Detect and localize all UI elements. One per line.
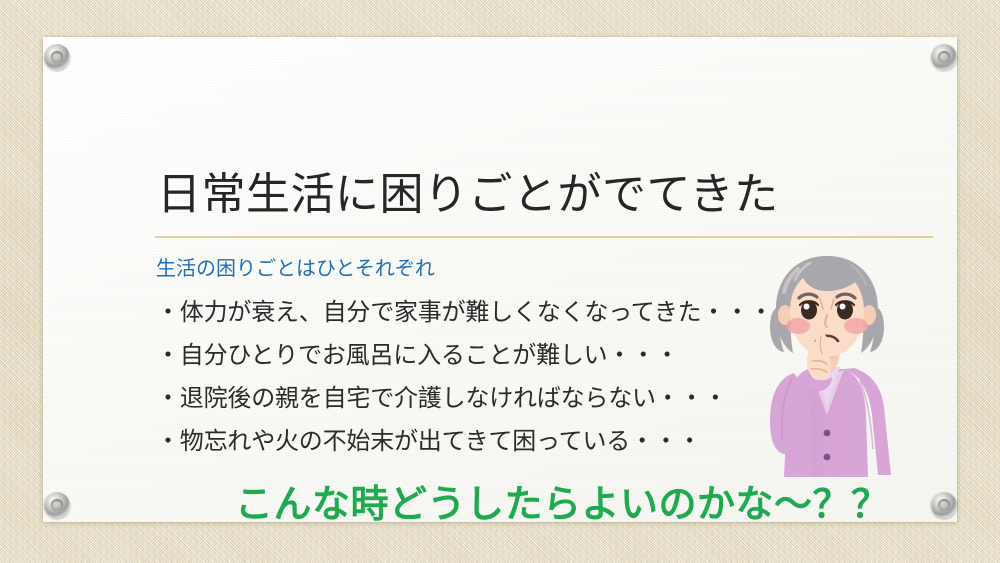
signboard-panel: 日常生活に困りごとがでてきた 生活の困りごとはひとそれぞれ ・体力が衰え、自分で… <box>43 37 957 522</box>
page-title: 日常生活に困りごとがでてきた <box>157 166 779 224</box>
bullet-list: ・体力が衰え、自分で家事が難しくなくなってきた・・・ ・自分ひとりでお風呂に入る… <box>156 291 776 463</box>
grommet-top-right <box>931 44 957 70</box>
subtitle-heading: 生活の困りごとはひとそれぞれ <box>156 255 435 283</box>
slide-canvas: 日常生活に困りごとがでてきた 生活の困りごとはひとそれぞれ ・体力が衰え、自分で… <box>0 0 1000 563</box>
worried-elderly-woman-illustration <box>750 249 920 507</box>
list-item: ・自分ひとりでお風呂に入ることが難しい・・・ <box>156 334 776 377</box>
grommet-bottom-right <box>931 492 957 518</box>
grommet-top-left <box>44 44 70 70</box>
grommet-bottom-left <box>44 492 70 518</box>
list-item: ・物忘れや火の不始末が出てきて困っている・・・ <box>156 420 776 463</box>
title-divider <box>155 236 933 238</box>
list-item: ・体力が衰え、自分で家事が難しくなくなってきた・・・ <box>156 291 776 334</box>
list-item: ・退院後の親を自宅で介護しなければならない・・・ <box>156 377 776 420</box>
